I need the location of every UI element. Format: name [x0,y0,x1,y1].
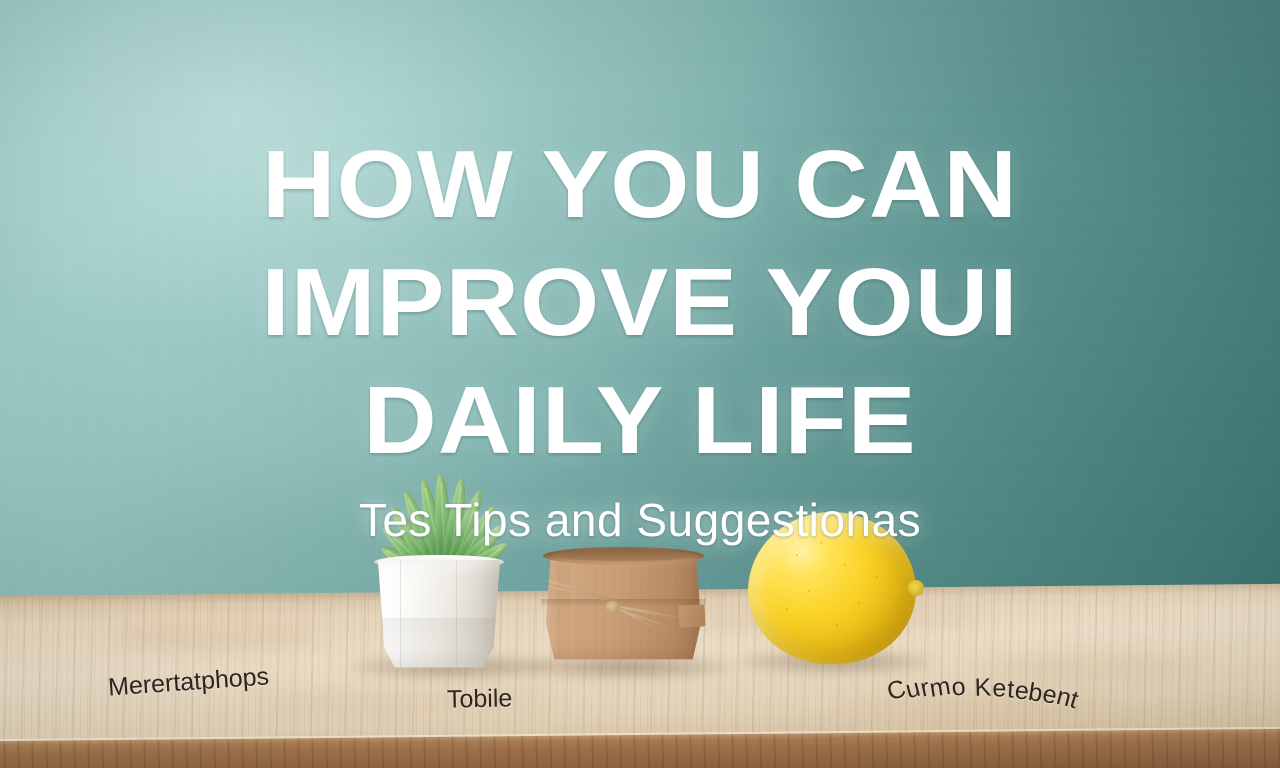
lemon-pore [796,554,798,556]
lemon-pore [808,590,810,592]
basket-paper-tab [678,604,705,627]
potted-succulent-plant [352,432,542,672]
lemon [748,512,920,672]
caption-char: o [950,672,967,702]
twine-knot [605,601,620,614]
caption-char: m [928,672,953,704]
lemon-pore [836,624,838,626]
lemon-pore [844,564,846,566]
kraft-paper-basket [533,545,718,673]
caption-right-object: Curmo Ketebent [893,674,1075,703]
table-wood-grain [251,691,571,712]
lemon-body [748,512,916,664]
white-ceramic-pot [374,560,504,672]
lemon-pore [876,576,878,578]
poster-canvas: HOW YOU CAN IMPROVE YOUI DAILY LIFE Tes … [0,0,1280,768]
pot-facet [374,618,504,672]
caption-char [966,673,975,702]
table-wood-grain [110,623,320,651]
wall-vignette [0,0,1280,620]
caption-char: e [992,674,1007,703]
caption-char: K [974,673,991,702]
basket-interior [553,550,694,561]
caption-center-object: Tobile [447,684,513,714]
lemon-stem-nub [908,580,924,596]
lemon-pore [820,542,822,544]
lemon-pore [858,602,860,604]
lemon-pore [786,608,788,610]
